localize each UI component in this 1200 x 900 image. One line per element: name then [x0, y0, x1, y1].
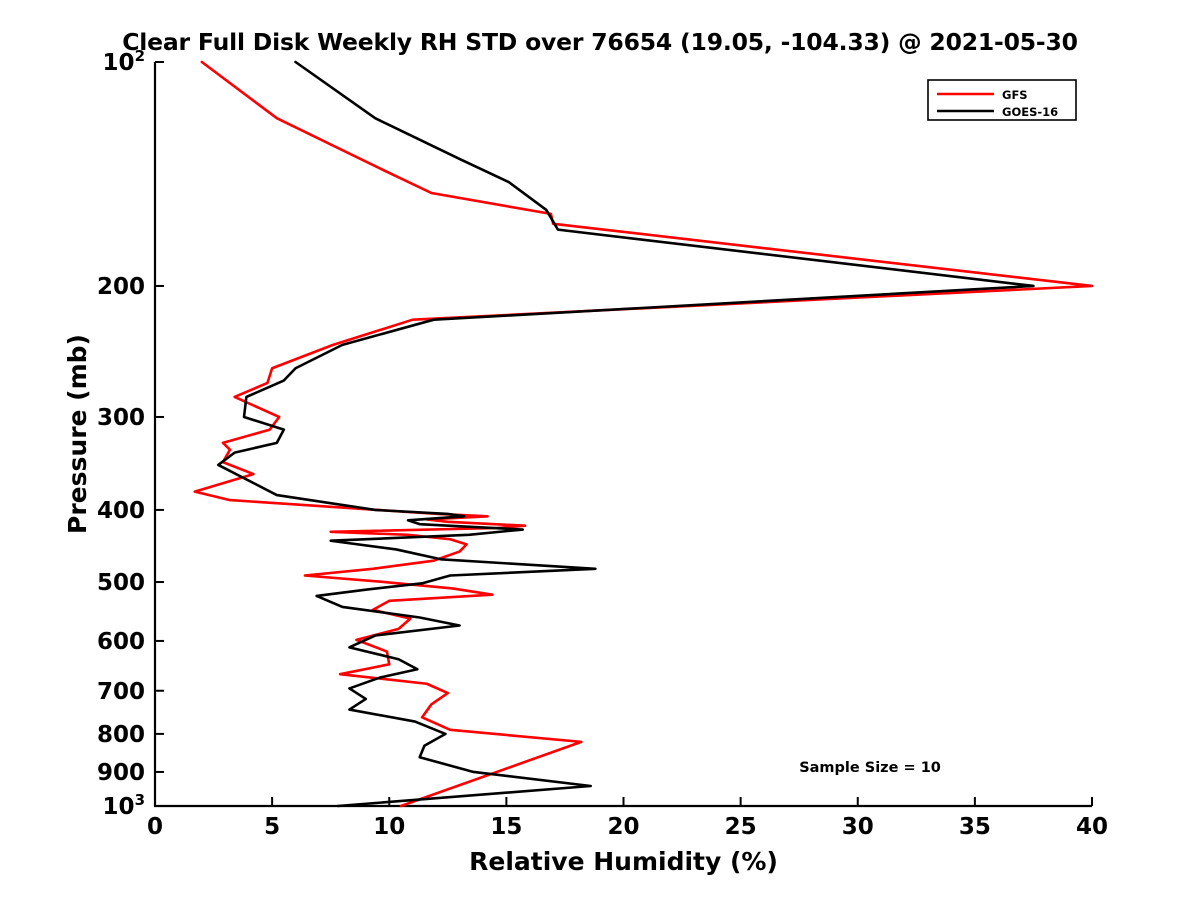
- y-axis-title: Pressure (mb): [63, 334, 92, 534]
- x-tick-label: 15: [490, 814, 522, 840]
- x-tick-label: 10: [373, 814, 405, 840]
- series-line-gfs: [195, 62, 1092, 806]
- y-tick-label: 102: [103, 47, 145, 76]
- x-tick-label: 35: [959, 814, 991, 840]
- data-series-group: [195, 62, 1092, 806]
- x-axis-title-group: Relative Humidity (%): [469, 847, 778, 876]
- x-axis-title: Relative Humidity (%): [469, 847, 778, 876]
- y-tick-label: 900: [97, 760, 145, 786]
- x-tick-label: 5: [264, 814, 280, 840]
- sample-size-annotation: Sample Size = 10: [799, 760, 941, 776]
- x-tick-label: 40: [1076, 814, 1108, 840]
- x-tick-label: 20: [607, 814, 639, 840]
- x-tick-label: 25: [725, 814, 757, 840]
- y-axis-title-group: Pressure (mb): [63, 334, 92, 534]
- chart-canvas: 0510152025303540 10220030040050060070080…: [0, 0, 1200, 900]
- y-tick-label: 700: [97, 679, 145, 705]
- x-tick-label: 30: [842, 814, 874, 840]
- y-tick-label: 300: [97, 405, 145, 431]
- axis-spines: [155, 62, 1092, 806]
- y-tick-label: 103: [103, 791, 145, 820]
- series-line-goes-16: [218, 62, 1033, 806]
- axes-frame: [155, 62, 1092, 806]
- y-tick-label: 600: [97, 629, 145, 655]
- y-tick-label: 200: [97, 274, 145, 300]
- legend-label-goes-16: GOES-16: [1002, 105, 1058, 119]
- y-tick-label: 400: [97, 498, 145, 524]
- sample-size-label: Sample Size = 10: [799, 760, 941, 776]
- y-tick-label: 500: [97, 570, 145, 596]
- x-axis-ticks: 0510152025303540: [147, 797, 1108, 840]
- y-tick-label: 800: [97, 722, 145, 748]
- chart-figure: Clear Full Disk Weekly RH STD over 76654…: [0, 0, 1200, 900]
- x-tick-label: 0: [147, 814, 163, 840]
- chart-legend: GFSGOES-16: [928, 80, 1076, 120]
- legend-label-gfs: GFS: [1002, 88, 1028, 102]
